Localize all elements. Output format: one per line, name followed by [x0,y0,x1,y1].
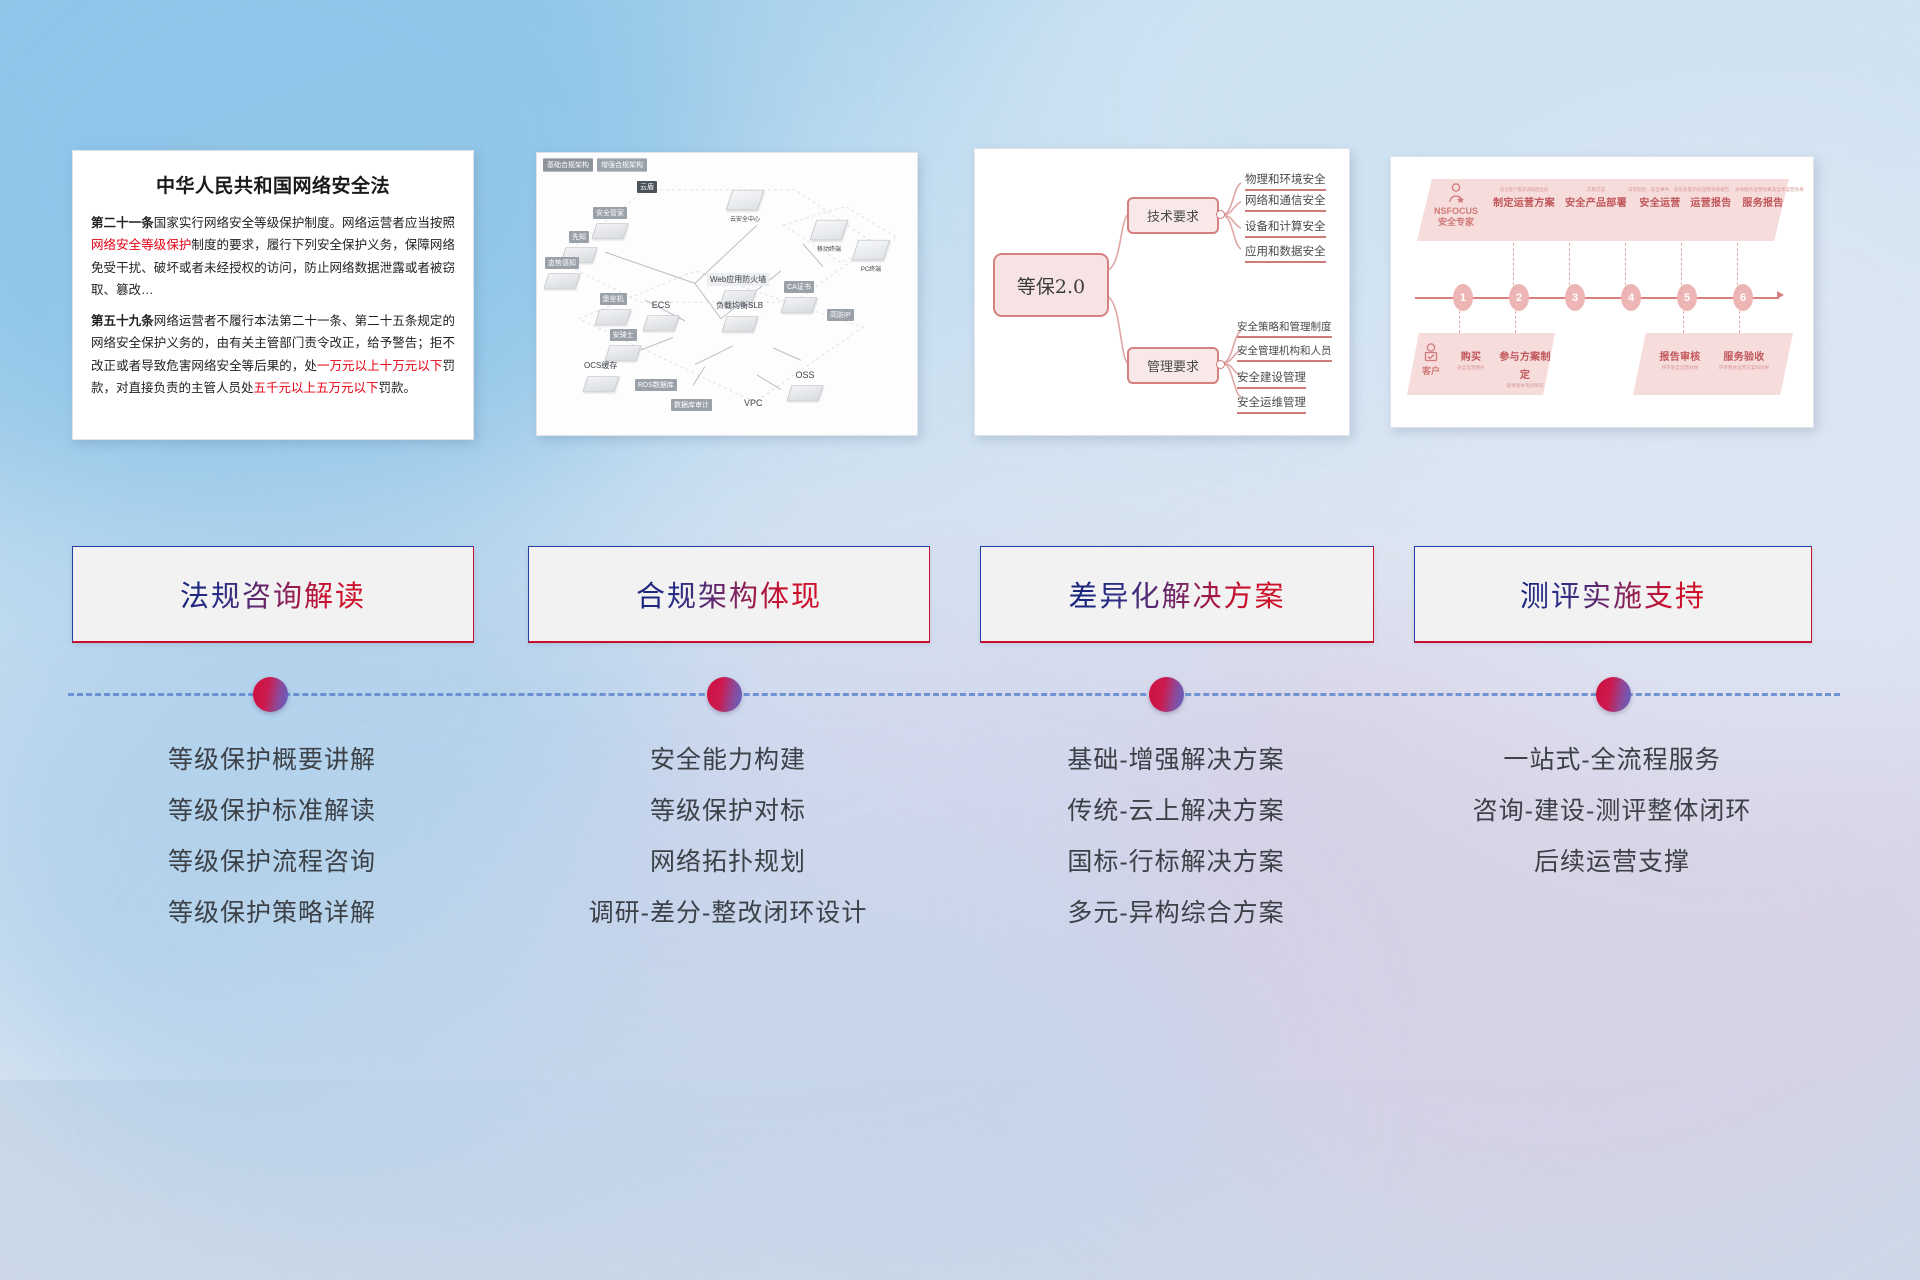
list-item: 调研-差分-整改闭环设计 [528,888,928,939]
vendor-step-1: 结合客户需求调研后出具 制定运营方案 [1487,187,1561,211]
timeline-milestone-dot-4[interactable] [1596,677,1631,712]
step-title: 安全运营 [1639,198,1680,209]
timeline-connector [1513,243,1514,295]
tab-basic-architecture[interactable]: 基础合规架构 [543,158,593,171]
step-title: 安全产品部署 [1565,198,1627,209]
step-sub: 评审安全运营效果 [1651,365,1709,371]
law-article-21: 第二十一条国家实行网络安全等级保护制度。网络运营者应当按照网络安全等级保护制度的… [91,212,455,301]
arch-label: 数据库审计 [671,399,712,411]
server-icon [726,190,765,210]
server-icon [591,223,628,239]
server-icon [780,297,817,313]
preview-card-row: 中华人民共和国网络安全法 第二十一条国家实行网络安全等级保护制度。网络运营者应当… [0,0,1920,460]
tab-enhanced-architecture[interactable]: 增强合规架构 [597,158,647,171]
timeline-dashed-line [68,693,1840,696]
device-icon [852,240,891,260]
article-59-highlight-1: 一万元以上十万元以下 [317,359,443,373]
arch-node-yundun: 云盾 [637,181,657,195]
detail-list-1: 等级保护概要讲解 等级保护标准解读 等级保护流程咨询 等级保护策略详解 [72,735,472,939]
timeline-connector [1569,243,1570,295]
timeline-number-2: 2 [1509,284,1529,311]
arch-label: 堡垒机 [600,293,627,305]
list-item: 网络拓扑规划 [528,837,928,888]
timeline-connector [1683,311,1684,333]
mindmap-leaf: 安全策略和管理制度 [1237,319,1332,338]
timeline-track [0,660,1920,720]
customer-step-3: 报告审核 评审安全运营效果 [1651,347,1709,371]
mindmap-leaf: 安全建设管理 [1237,369,1306,389]
list-item: 后续运营支撑 [1414,837,1810,888]
mindmap-leaf: 网络和通信安全 [1245,192,1326,212]
step-title: 服务报告 [1742,198,1783,209]
detail-list-3: 基础-增强解决方案 传统-云上解决方案 国标-行标解决方案 多元-异构综合方案 [980,735,1372,939]
customer-step-1: 购买 安全运营服务 [1445,347,1497,371]
vendor-role: 安全专家 [1425,217,1487,227]
section-title-box-2[interactable]: 合规架构体现 [528,546,930,643]
article-21-highlight: 网络安全等级保护 [91,238,191,252]
step-title: 服务验收 [1723,352,1764,363]
section-title-label: 差异化解决方案 [1068,573,1285,615]
article-21-label: 第二十一条 [91,216,154,230]
vendor-step-2: 实施方案 安全产品部署 [1561,187,1631,211]
step-sub: 实施方案 [1561,187,1631,193]
server-icon [543,273,580,289]
section-title-box-3[interactable]: 差异化解决方案 [980,546,1374,643]
arch-node-anti-ddos-ip: 高防IP [827,309,854,323]
timeline-connector [1625,243,1626,295]
mindmap-collapse-icon[interactable] [1216,360,1225,369]
law-document: 中华人民共和国网络安全法 第二十一条国家实行网络安全等级保护制度。网络运营者应当… [73,151,473,439]
detail-list-4: 一站式-全流程服务 咨询-建设-测评整体闭环 后续运营支撑 [1414,735,1810,888]
section-title-label: 法规咨询解读 [180,573,366,615]
timeline-number-1: 1 [1453,284,1473,311]
list-item: 等级保护对标 [528,786,928,837]
nsfocus-timeline-diagram: NSFOCUS 安全专家 结合客户需求调研后出具 制定运营方案 实施方案 安全产… [1391,157,1813,427]
timeline-connector [1737,243,1738,295]
list-item: 咨询-建设-测评整体闭环 [1414,786,1810,837]
arch-node-security-butler: 安全管家 [593,207,627,241]
step-sub: 总体服务运营效果及全年运营效果 [1735,187,1791,193]
server-icon [721,316,758,332]
arch-node-database-audit: 数据库审计 [671,399,712,413]
article-21-text-a: 国家实行网络安全等级保护制度。网络运营者应当按照 [154,216,455,230]
card-mindmap-dengbao[interactable]: 等保2.0 技术要求 管理要求 物理和环境安全 网络和通信安全 设备和计算安全 … [974,148,1350,436]
step-sub: 阶段运营效果报告 [1683,187,1739,193]
timeline-number-5: 5 [1677,284,1697,311]
mindmap-leaf: 应用和数据安全 [1245,243,1326,263]
arch-node-pc-terminal: PC终端 [855,237,887,276]
arch-label: OSS [792,369,817,381]
vendor-name: NSFOCUS [1425,206,1487,216]
arch-node-anqishi: 安骑士 [607,329,639,363]
server-icon [786,385,823,401]
customer-person-icon [1423,343,1439,363]
section-title-label: 测评实施支持 [1520,573,1706,615]
law-title: 中华人民共和国网络安全法 [91,171,455,198]
customer-label: 客户 [1413,366,1449,376]
arch-label: CA证书 [784,281,814,293]
server-icon [594,309,631,325]
timeline-number-6: 6 [1733,284,1753,311]
arch-label: 态势感知 [545,257,579,269]
list-item: 一站式-全流程服务 [1414,735,1810,786]
article-59-text-c: 罚款。 [379,381,417,395]
arch-label: 安骑士 [610,329,637,341]
section-title-box-4[interactable]: 测评实施支持 [1414,546,1812,643]
arch-node-rds-database: RDS数据库 [635,379,677,393]
detail-list-row: 等级保护概要讲解 等级保护标准解读 等级保护流程咨询 等级保护策略详解 安全能力… [0,735,1920,985]
list-item: 等级保护流程咨询 [72,837,472,888]
server-icon [642,315,679,331]
step-title: 制定运营方案 [1493,198,1555,209]
step-title: 购买 [1461,352,1482,363]
list-item: 传统-云上解决方案 [980,786,1372,837]
arch-node-slb: 负载均衡SLB [713,299,766,334]
mindmap-leaf: 设备和计算安全 [1245,218,1326,238]
timeline-milestone-dot-3[interactable] [1149,677,1184,712]
card-compliance-architecture[interactable]: 基础合规架构 增强合规架构 [536,152,918,436]
step-title: 报告审核 [1659,352,1700,363]
timeline-number-3: 3 [1565,284,1585,311]
architecture-tabs[interactable]: 基础合规架构 增强合规架构 [543,158,647,172]
list-item: 基础-增强解决方案 [980,735,1372,786]
section-title-box-1[interactable]: 法规咨询解读 [72,546,474,643]
timeline-milestone-dot-1[interactable] [253,677,288,712]
expert-person-icon [1447,183,1465,203]
mindmap-root: 等保2.0 [993,253,1109,317]
arch-node-ocs-cache: OCS缓存 [581,359,620,394]
architecture-canvas: 云盾 安全管家 先知 态势感知 堡垒机 [545,171,909,427]
step-sub: 安全运营服务 [1445,365,1497,371]
list-item: 等级保护标准解读 [72,786,472,837]
arch-node-bastion-host: 堡垒机 [597,293,629,327]
arch-node-oss: OSS [789,369,821,403]
card-cybersecurity-law[interactable]: 中华人民共和国网络安全法 第二十一条国家实行网络安全等级保护制度。网络运营者应当… [72,150,474,440]
timeline-milestone-dot-2[interactable] [707,677,742,712]
arch-node-ecs: ECS [645,299,677,333]
step-sub: 评审整体运营方案和效果 [1713,365,1775,371]
mindmap-leaf: 安全管理机构和人员 [1237,343,1332,362]
list-item: 多元-异构综合方案 [980,888,1372,939]
arch-label: 先知 [569,231,589,243]
detail-list-2: 安全能力构建 等级保护对标 网络拓扑规划 调研-差分-整改闭环设计 [528,735,928,939]
section-title-label: 合规架构体现 [636,573,822,615]
arch-label: 云盾 [637,181,657,193]
timeline-connector [1515,311,1516,333]
step-title: 参与方案制定 [1499,352,1551,381]
device-icon [810,220,849,240]
article-59-highlight-2: 五千元以上五万元以下 [254,381,379,395]
customer-step-4: 服务验收 评审整体运营方案和效果 [1713,347,1775,371]
arch-label: 云安全中心 [727,213,763,224]
vendor-step-5: 总体服务运营效果及全年运营效果 服务报告 [1735,187,1791,211]
mindmap-leaf: 物理和环境安全 [1245,171,1326,191]
card-nsfocus-service-timeline[interactable]: NSFOCUS 安全专家 结合客户需求调研后出具 制定运营方案 实施方案 安全产… [1390,156,1814,428]
timeline-number-4: 4 [1621,284,1641,311]
mindmap-diagram: 等保2.0 技术要求 管理要求 物理和环境安全 网络和通信安全 设备和计算安全 … [975,149,1349,435]
list-item: 等级保护策略详解 [72,888,472,939]
step-sub: 结合客户需求调研后出具 [1487,187,1561,193]
timeline-connector [1739,311,1740,333]
vendor-step-4: 阶段运营效果报告 运营报告 [1683,187,1739,211]
mindmap-leaf: 安全运维管理 [1237,394,1306,414]
list-item: 国标-行标解决方案 [980,837,1372,888]
customer-step-2: 参与方案制定 提供基本现状情况 [1495,347,1555,389]
arch-node-mobile-terminal: 移动终端 [813,217,845,256]
step-title: 运营报告 [1690,198,1731,209]
axis-arrow-icon [1777,291,1784,299]
list-item: 安全能力构建 [528,735,928,786]
mindmap-branch-technical: 技术要求 [1127,197,1219,234]
arch-label: RDS数据库 [635,379,677,391]
arch-node-vpc: VPC [741,397,766,411]
arch-label: 高防IP [827,309,854,321]
server-icon [582,376,619,392]
arch-node-situational-awareness: 态势感知 [545,257,579,291]
arch-label: ECS [649,299,674,311]
mindmap-branch-management: 管理要求 [1127,347,1219,384]
step-sub: 提供基本现状情况 [1495,383,1555,389]
arch-label: OCS缓存 [581,359,620,372]
arch-label: PC终端 [858,263,884,274]
law-article-59: 第五十九条网络运营者不履行本法第二十一条、第二十五条规定的网络安全保护义务的，由… [91,310,455,399]
arch-label: Web应用防火墙 [707,273,769,286]
arch-node-ca-certificate: CA证书 [783,281,815,315]
arch-label: VPC [741,397,766,409]
arch-node-cloud-security-center: 云安全中心 [727,187,763,226]
arch-label: 安全管家 [593,207,627,219]
customer-persona: 客户 [1413,343,1449,377]
arch-label: 负载均衡SLB [713,299,766,312]
arch-label: 移动终端 [814,243,844,254]
timeline-connector [1459,311,1460,333]
article-59-label: 第五十九条 [91,314,154,328]
list-item: 等级保护概要讲解 [72,735,472,786]
mindmap-collapse-icon[interactable] [1216,210,1225,219]
vendor-persona: NSFOCUS 安全专家 [1425,183,1487,227]
architecture-diagram: 基础合规架构 增强合规架构 [537,153,917,435]
section-title-row: 法规咨询解读 合规架构体现 差异化解决方案 测评实施支持 [0,546,1920,646]
timeline-connector [1681,243,1682,295]
